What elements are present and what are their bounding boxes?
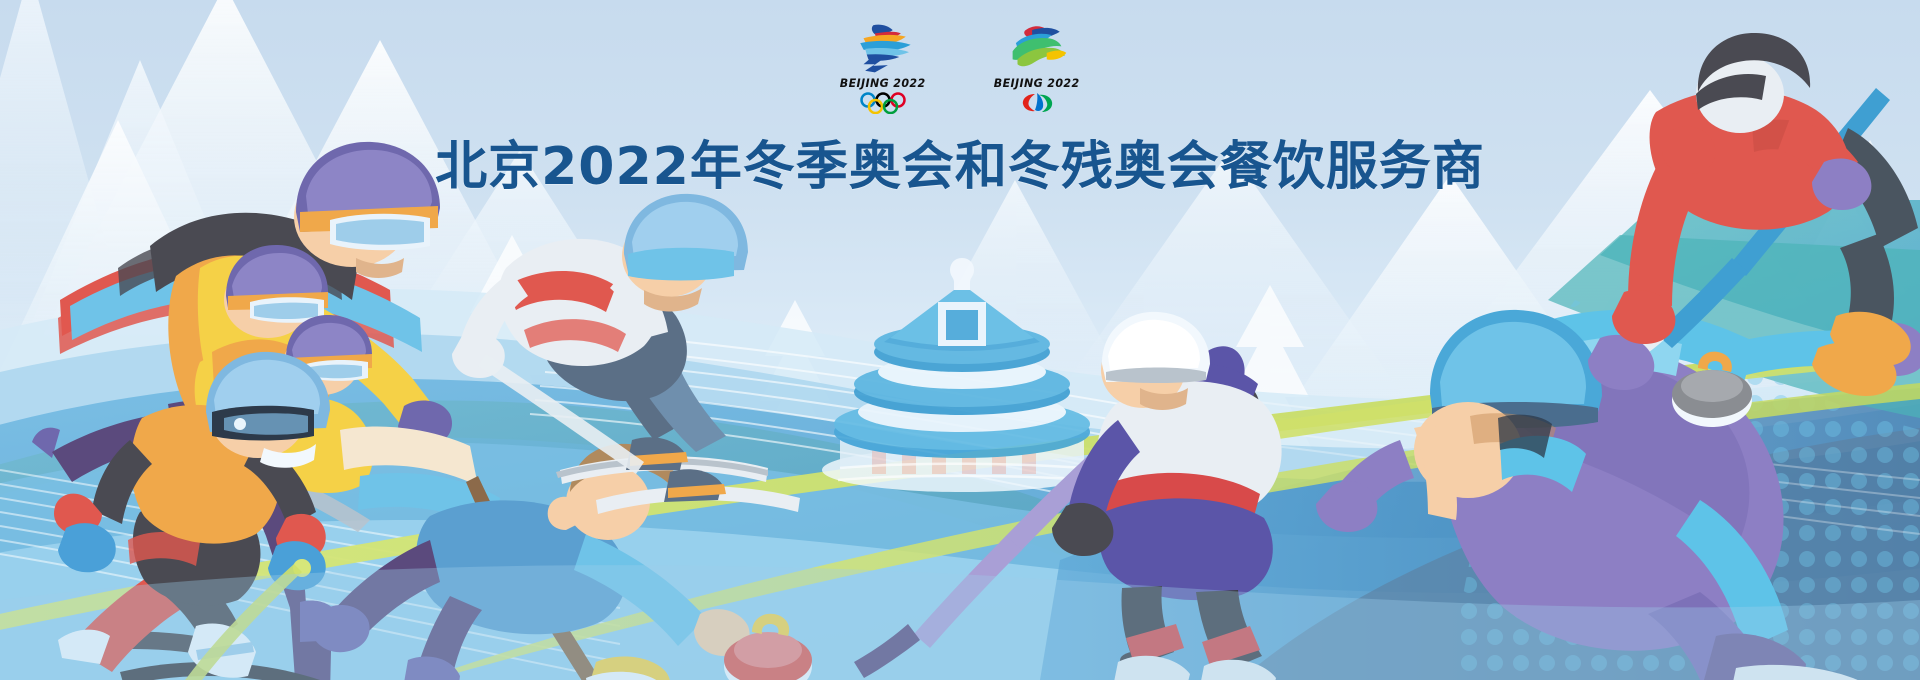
olympic-rings-icon	[845, 92, 921, 114]
agitos-icon	[1008, 92, 1066, 114]
paralympic-wordmark: BEIJING 2022	[994, 76, 1080, 90]
olympic-wordmark: BEIJING 2022	[840, 76, 926, 90]
winter-olympics-banner: BEIJING 2022 BEIJING 2022	[0, 0, 1920, 680]
beijing-2022-winter-olympic-emblem-icon	[842, 22, 924, 74]
olympic-emblem: BEIJING 2022	[835, 22, 931, 114]
emblem-row: BEIJING 2022 BEIJING 2022	[0, 22, 1920, 118]
beijing-2022-winter-paralympic-emblem-icon	[996, 22, 1078, 74]
paralympic-emblem: BEIJING 2022	[989, 22, 1085, 114]
page-title: 北京2022年冬季奥会和冬残奥会餐饮服务商	[0, 124, 1920, 199]
